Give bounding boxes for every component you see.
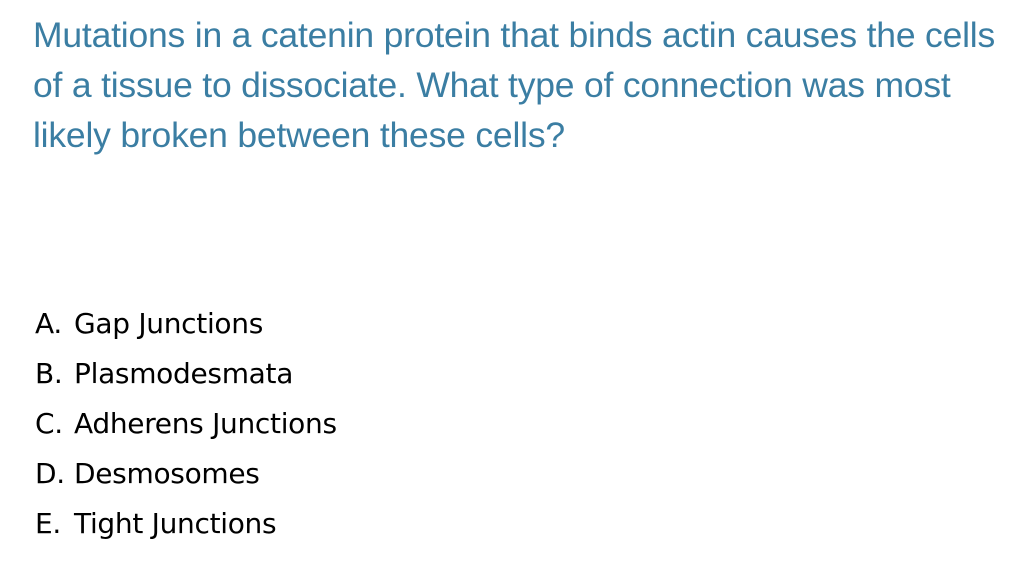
option-letter-a: A. (35, 299, 74, 349)
option-text-a: Gap Junctions (74, 299, 263, 349)
answer-options-list: A. Gap Junctions B. Plasmodesmata C. Adh… (35, 299, 735, 549)
option-text-b: Plasmodesmata (74, 349, 293, 399)
option-letter-d: D. (35, 449, 74, 499)
question-block: Mutations in a catenin protein that bind… (33, 10, 1008, 160)
option-text-d: Desmosomes (74, 449, 260, 499)
slide-canvas: Mutations in a catenin protein that bind… (0, 0, 1019, 567)
answer-option-d[interactable]: D. Desmosomes (35, 449, 735, 499)
question-text: Mutations in a catenin protein that bind… (33, 10, 1008, 160)
answer-option-e[interactable]: E. Tight Junctions (35, 499, 735, 549)
option-letter-b: B. (35, 349, 74, 399)
answer-option-a[interactable]: A. Gap Junctions (35, 299, 735, 349)
option-text-e: Tight Junctions (74, 499, 276, 549)
option-letter-c: C. (35, 399, 74, 449)
answer-option-c[interactable]: C. Adherens Junctions (35, 399, 735, 449)
answer-option-b[interactable]: B. Plasmodesmata (35, 349, 735, 399)
option-letter-e: E. (35, 499, 74, 549)
option-text-c: Adherens Junctions (74, 399, 337, 449)
